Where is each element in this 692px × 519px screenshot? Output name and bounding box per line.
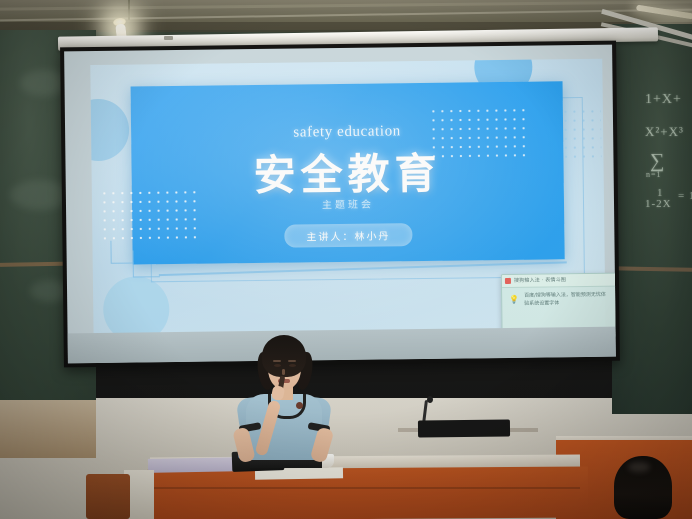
ceiling-beam-secondary [0,9,692,22]
chalk-formula-denom: 1-2X [645,198,672,210]
teacher-eye-right [289,364,296,367]
desk-microphone-head-icon [427,396,433,403]
chalk-formula-1: 1+X+ [645,92,682,108]
popup-app-icon [505,278,511,284]
screen-lower-blank-area [68,327,616,364]
roller-end-cap [164,36,173,40]
slide-notch-step-1 [110,241,133,264]
popup-title-text: 搜狗输入法 · 表情斗图 [514,276,566,284]
teacher-eyebrow-right [288,360,296,362]
light-hanging-wire [128,0,130,20]
chalk-formula-2: X²+X³ [645,124,684,140]
chalk-formula-sigma-index: n=1 [646,170,662,179]
podium-front-panel [148,466,588,519]
projection-screen-frame: safety education 安全教育 主题班会 主讲人：林小丹 搜狗输入法… [60,41,620,368]
blackboard-right [612,24,692,414]
student-hair-highlight [628,462,650,472]
teacher-eye-left [274,364,281,367]
ceiling-beam [0,0,692,10]
teacher-nose [282,369,285,375]
popup-body-line-2: 验系统设置字体 [524,298,616,308]
classroom-photo: 1+X+ X²+X³ ∑ n=1 1 1-2X = 1 safety educa [0,0,692,519]
laptop-on-desk [418,420,510,438]
desk-folder-item [148,457,244,473]
teacher-shirt-badge [296,402,303,409]
popup-titlebar: 搜狗输入法 · 表情斗图 — ✕ [502,273,616,288]
wall-lower-left-wood [0,398,96,458]
podium-seam [150,487,580,489]
popup-bulb-icon: 💡 [509,295,519,304]
slide-notch-step-2 [133,250,160,277]
chalk-formula-result: = 1 [678,190,692,202]
teacher-eyebrow-left [273,360,281,362]
classroom-stool [86,474,130,519]
projection-screen-surface: safety education 安全教育 主题班会 主讲人：林小丹 搜狗输入法… [64,45,616,364]
ceiling [0,0,692,30]
slide-presenter-pill: 主讲人：林小丹 [284,223,412,248]
